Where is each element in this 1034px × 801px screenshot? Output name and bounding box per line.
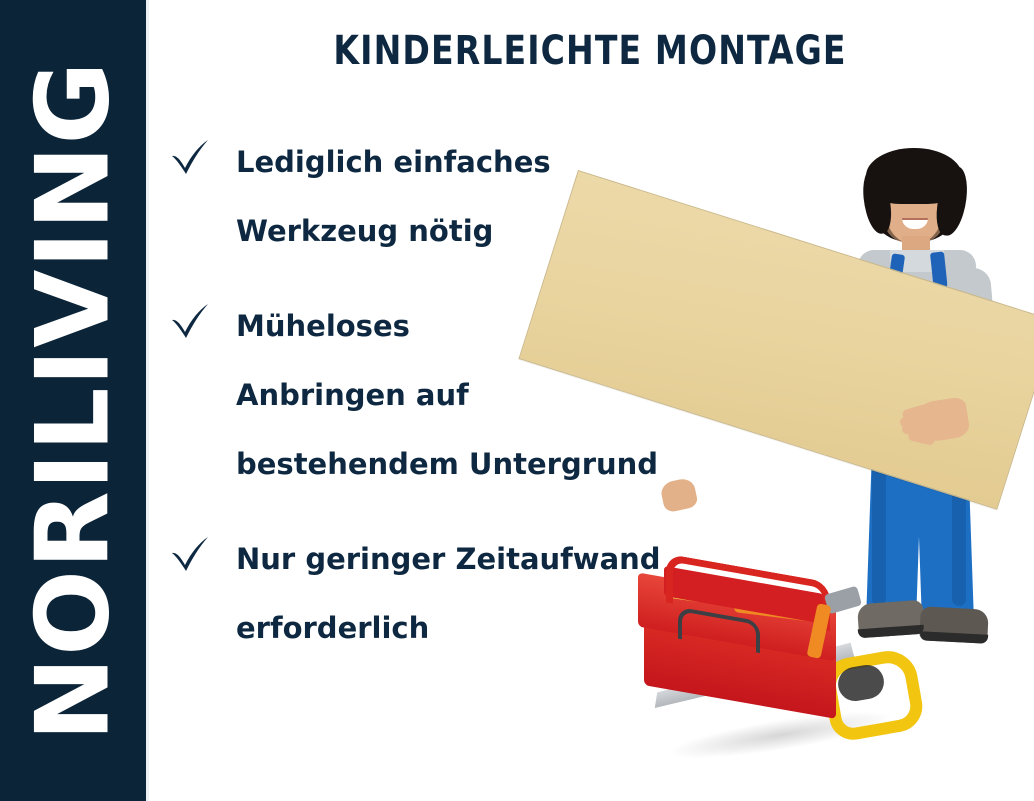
check-mark-icon	[168, 298, 212, 342]
hand-left	[659, 477, 698, 513]
check-mark-icon	[168, 134, 212, 178]
brand-name: NORILIVING	[23, 60, 124, 741]
page-title: KINDERLEICHTE MONTAGE	[182, 28, 999, 74]
check-mark-icon	[168, 531, 212, 575]
brand-sidebar: NORILIVING	[0, 0, 146, 801]
toolbox-group	[630, 570, 930, 780]
poster-canvas: NORILIVING KINDERLEICHTE MONTAGE Ledigli…	[0, 0, 1034, 801]
brand-sidebar-edge	[146, 0, 149, 801]
worker-photo	[560, 130, 1034, 801]
